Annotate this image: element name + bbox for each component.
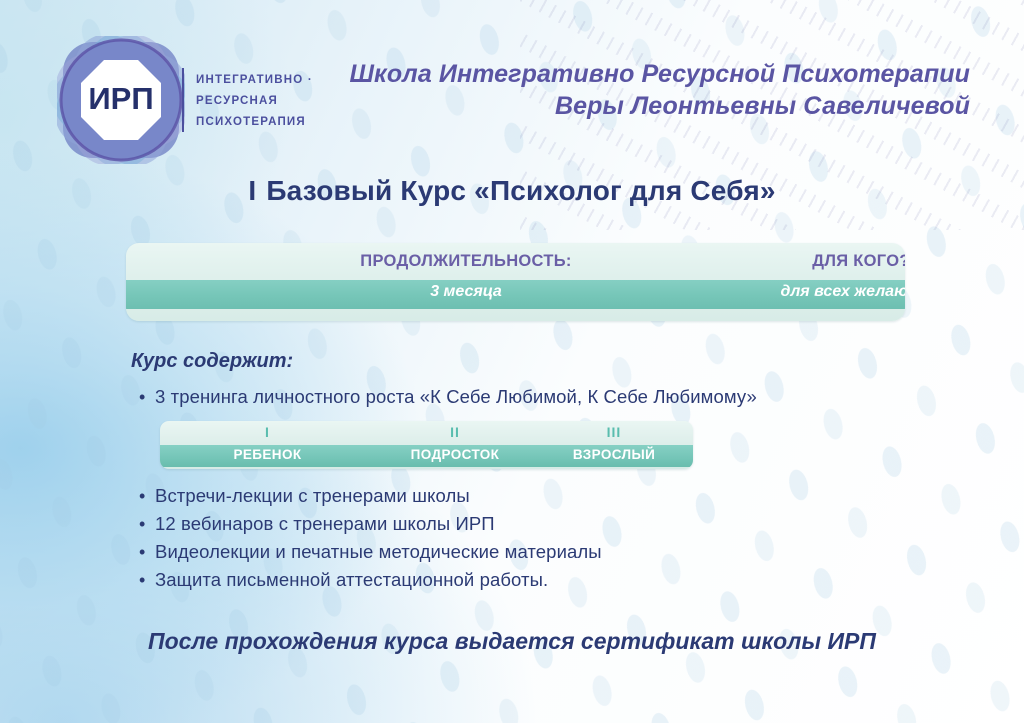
- bullet-icon: •: [139, 542, 155, 563]
- stage-label: РЕБЕНОК: [160, 447, 375, 462]
- bullet-icon: •: [139, 387, 155, 408]
- school-title: Школа Интегративно Ресурсной Психотерапи…: [330, 58, 970, 122]
- page-title: IБазовый Курс «Психолог для Себя»: [0, 175, 1024, 207]
- audience-value: для всех желающих: [691, 283, 905, 301]
- list-item-text: Защита письменной аттестационной работы.: [155, 569, 548, 590]
- course-info-bar: ПРОДОЛЖИТЕЛЬНОСТЬ: 3 месяца ДЛЯ КОГО? дл…: [126, 243, 905, 321]
- certificate-note: После прохождения курса выдается сертифи…: [0, 628, 1024, 655]
- bullet-icon: •: [139, 486, 155, 507]
- info-cell-duration: ПРОДОЛЖИТЕЛЬНОСТЬ: 3 месяца: [246, 243, 686, 321]
- stages-bar: I РЕБЕНОК II ПОДРОСТОК III ВЗРОСЛЫЙ: [160, 421, 693, 469]
- list-item: •3 тренинга личностного роста «К Себе Лю…: [139, 386, 757, 408]
- list-item-text: 12 вебинаров с тренерами школы ИРП: [155, 513, 495, 534]
- list-item: •Видеолекции и печатные методические мат…: [139, 541, 602, 563]
- list-item-text: Видеолекции и печатные методические мате…: [155, 541, 602, 562]
- duration-label: ПРОДОЛЖИТЕЛЬНОСТЬ:: [246, 252, 686, 271]
- list-item-text: 3 тренинга личностного роста «К Себе Люб…: [155, 386, 757, 407]
- stage-numeral: III: [535, 424, 693, 440]
- logo-mark-icon: ИРП: [57, 36, 185, 164]
- logo-mark-text: ИРП: [88, 81, 153, 116]
- logo-tagline-line-2: РЕСУРСНАЯ: [196, 91, 313, 112]
- stage-label: ВЗРОСЛЫЙ: [535, 447, 693, 462]
- list-item: •Защита письменной аттестационной работы…: [139, 569, 548, 591]
- course-roman-numeral: I: [248, 175, 256, 206]
- audience-label: ДЛЯ КОГО?: [691, 252, 905, 271]
- school-title-line-2: Веры Леонтьевны Савеличевой: [330, 90, 970, 122]
- duration-value: 3 месяца: [246, 283, 686, 301]
- logo-tagline-line-1: ИНТЕГРАТИВНО ·: [196, 70, 313, 91]
- stage-numeral: I: [160, 424, 375, 440]
- list-item-text: Встречи-лекции с тренерами школы: [155, 485, 470, 506]
- stage-numeral: II: [375, 424, 535, 440]
- info-cell-audience: ДЛЯ КОГО? для всех желающих: [691, 243, 905, 321]
- contains-title: Курс содержит:: [131, 350, 293, 373]
- bullet-icon: •: [139, 514, 155, 535]
- list-item: •12 вебинаров с тренерами школы ИРП: [139, 513, 495, 535]
- irp-logo: ИРП: [57, 36, 185, 164]
- stage-item-1: I РЕБЕНОК: [160, 421, 375, 469]
- stage-item-2: II ПОДРОСТОК: [375, 421, 535, 469]
- logo-tagline-line-3: ПСИХОТЕРАПИЯ: [196, 112, 313, 133]
- stage-label: ПОДРОСТОК: [375, 447, 535, 462]
- list-item: •Встречи-лекции с тренерами школы: [139, 485, 470, 507]
- slide-canvas: ИРП ИНТЕГРАТИВНО · РЕСУРСНАЯ ПСИХОТЕРАПИ…: [0, 0, 1024, 723]
- logo-tagline: ИНТЕГРАТИВНО · РЕСУРСНАЯ ПСИХОТЕРАПИЯ: [196, 70, 313, 133]
- course-title-text: Базовый Курс «Психолог для Себя»: [266, 175, 775, 206]
- stage-item-3: III ВЗРОСЛЫЙ: [535, 421, 693, 469]
- school-title-line-1: Школа Интегративно Ресурсной Психотерапи…: [330, 58, 970, 90]
- logo-divider: [182, 68, 184, 132]
- bullet-icon: •: [139, 570, 155, 591]
